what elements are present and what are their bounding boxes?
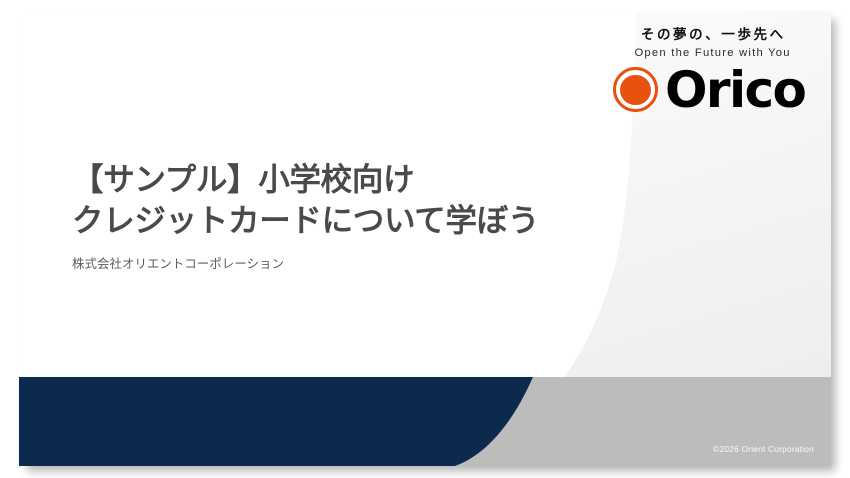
logo-tagline-japanese: その夢の、一歩先へ: [609, 26, 815, 44]
slide-title-line-2: クレジットカードについて学ぼう: [72, 200, 612, 241]
screenshot-canvas: その夢の、一歩先へ Open the Future with You Orico…: [0, 0, 850, 478]
navy-band-shape: [19, 377, 533, 466]
orico-circle-mark-icon: [613, 67, 658, 112]
orico-logo-block: その夢の、一歩先へ Open the Future with You Orico: [609, 26, 815, 113]
slide-title-block: 【サンプル】小学校向け クレジットカードについて学ぼう 株式会社オリエントコーポ…: [72, 159, 612, 272]
copyright-notice: ©2026 Orient Corporation: [713, 444, 814, 454]
slide-subtitle: 株式会社オリエントコーポレーション: [72, 254, 612, 272]
logo-wordmark-row: Orico: [609, 67, 815, 113]
logo-tagline-english: Open the Future with You: [609, 45, 815, 61]
slide-title-line-1: 【サンプル】小学校向け: [72, 159, 612, 200]
orico-wordmark: Orico: [665, 67, 805, 113]
presentation-slide: その夢の、一歩先へ Open the Future with You Orico…: [19, 11, 831, 466]
